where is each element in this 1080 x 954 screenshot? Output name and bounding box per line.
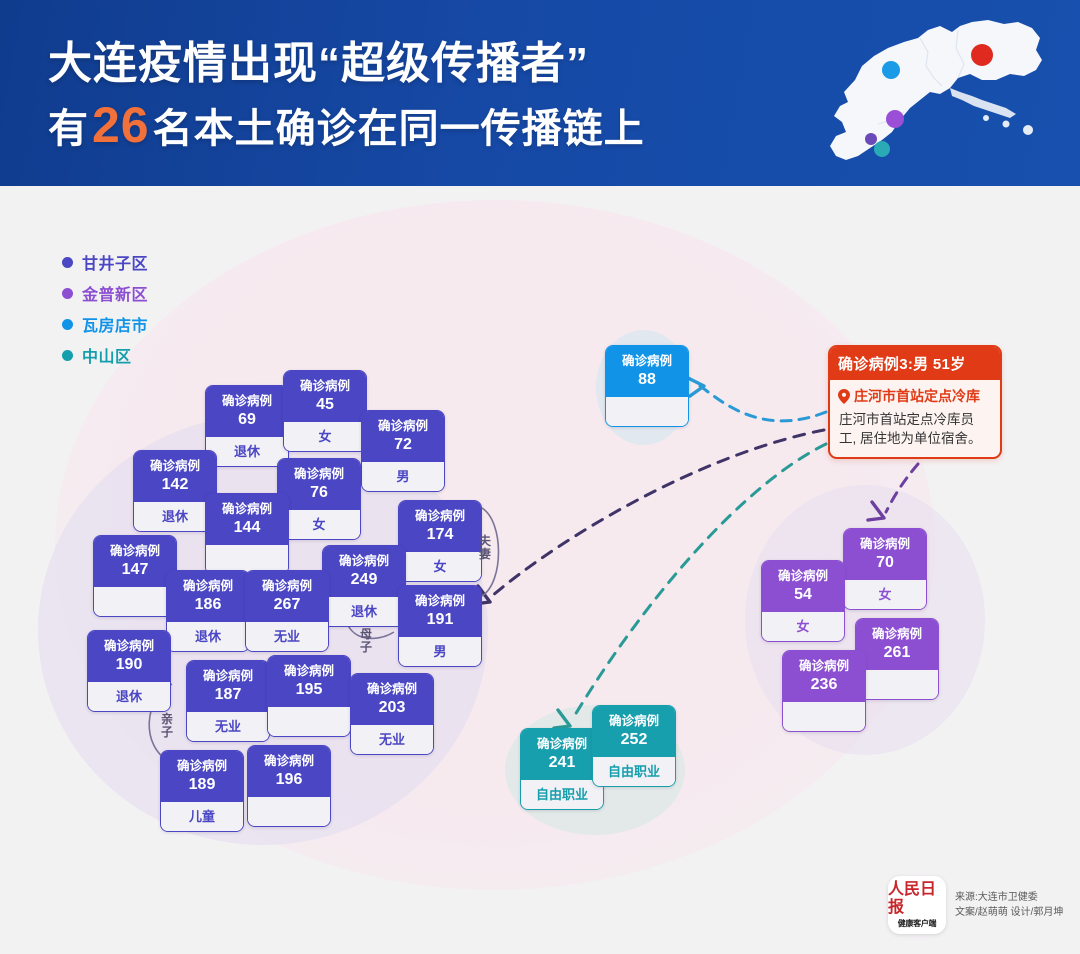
relation-label-249-191: 母子 bbox=[359, 628, 373, 654]
case-card-195[interactable]: 确诊病例195 bbox=[267, 655, 351, 737]
case-card-267[interactable]: 确诊病例267无业 bbox=[245, 570, 329, 652]
case-card-190[interactable]: 确诊病例190退休 bbox=[87, 630, 171, 712]
case-card-189[interactable]: 确诊病例189儿童 bbox=[160, 750, 244, 832]
source-case-location-row: 庄河市首站定点冷库 bbox=[830, 380, 1000, 408]
case-number: 203 bbox=[353, 698, 431, 718]
case-card-head: 确诊病例261 bbox=[856, 619, 938, 670]
case-number: 70 bbox=[846, 553, 924, 573]
case-prefix: 确诊病例 bbox=[622, 354, 672, 368]
case-number: 54 bbox=[764, 585, 842, 605]
case-prefix: 确诊病例 bbox=[799, 659, 849, 673]
case-card-196[interactable]: 确诊病例196 bbox=[247, 745, 331, 827]
title-block: 大连疫情出现“超级传播者” 有26名本土确诊在同一传播链上 bbox=[48, 36, 688, 156]
case-card-88[interactable]: 确诊病例88 bbox=[605, 345, 689, 427]
source-case-location: 庄河市首站定点冷库 bbox=[854, 386, 980, 406]
case-card-head: 确诊病例186 bbox=[167, 571, 249, 622]
headline-primary: 大连疫情出现“超级传播者” bbox=[48, 36, 688, 92]
case-card-261[interactable]: 确诊病例261 bbox=[855, 618, 939, 700]
case-card-attribute: 无业 bbox=[351, 725, 433, 754]
case-card-head: 确诊病例241 bbox=[521, 729, 603, 780]
legend: 甘井子区 金普新区 瓦房店市 中山区 bbox=[62, 248, 148, 372]
case-card-attribute: 女 bbox=[278, 510, 360, 539]
legend-label: 瓦房店市 bbox=[82, 312, 148, 336]
case-card-head: 确诊病例69 bbox=[206, 386, 288, 437]
location-pin-icon bbox=[838, 389, 850, 404]
case-prefix: 确诊病例 bbox=[284, 664, 334, 678]
case-card-attribute: 退休 bbox=[167, 622, 249, 651]
case-number: 45 bbox=[286, 395, 364, 415]
case-card-attribute: 女 bbox=[399, 552, 481, 581]
dalian-map bbox=[800, 8, 1070, 178]
case-card-186[interactable]: 确诊病例186退休 bbox=[166, 570, 250, 652]
case-card-attribute bbox=[856, 670, 938, 699]
legend-dot-icon bbox=[62, 319, 73, 330]
case-card-head: 确诊病例76 bbox=[278, 459, 360, 510]
case-card-174[interactable]: 确诊病例174女 bbox=[398, 500, 482, 582]
marker-red bbox=[971, 44, 993, 66]
case-card-attribute: 女 bbox=[844, 580, 926, 609]
case-prefix: 确诊病例 bbox=[872, 627, 922, 641]
marker-purple bbox=[886, 110, 904, 128]
case-prefix: 确诊病例 bbox=[222, 502, 272, 516]
case-number: 241 bbox=[523, 753, 601, 773]
case-card-head: 确诊病例267 bbox=[246, 571, 328, 622]
case-card-head: 确诊病例144 bbox=[206, 494, 288, 545]
case-prefix: 确诊病例 bbox=[177, 759, 227, 773]
case-card-attribute: 女 bbox=[284, 422, 366, 451]
case-card-head: 确诊病例147 bbox=[94, 536, 176, 587]
case-card-head: 确诊病例203 bbox=[351, 674, 433, 725]
case-card-head: 确诊病例191 bbox=[399, 586, 481, 637]
case-card-45[interactable]: 确诊病例45女 bbox=[283, 370, 367, 452]
credits-text: 来源:大连市卫健委 文案/赵萌萌 设计/郭月坤 bbox=[955, 890, 1063, 920]
case-prefix: 确诊病例 bbox=[415, 594, 465, 608]
case-card-252[interactable]: 确诊病例252自由职业 bbox=[592, 705, 676, 787]
legend-item-jinpu[interactable]: 金普新区 bbox=[62, 279, 148, 307]
case-card-head: 确诊病例236 bbox=[783, 651, 865, 702]
case-card-147[interactable]: 确诊病例147 bbox=[93, 535, 177, 617]
footer-credits: 人民日报 健康客户端 来源:大连市卫健委 文案/赵萌萌 设计/郭月坤 bbox=[888, 876, 1063, 934]
marker-blue bbox=[882, 61, 900, 79]
case-card-203[interactable]: 确诊病例203无业 bbox=[350, 673, 434, 755]
case-card-head: 确诊病例70 bbox=[844, 529, 926, 580]
headline-count: 26 bbox=[89, 97, 153, 153]
case-card-attribute: 退休 bbox=[323, 597, 405, 626]
case-card-attribute bbox=[94, 587, 176, 616]
case-number: 88 bbox=[608, 370, 686, 390]
case-number: 144 bbox=[208, 518, 286, 538]
relation-label-174-191: 夫妻 bbox=[478, 535, 492, 561]
case-card-attribute: 无业 bbox=[187, 712, 269, 741]
case-card-54[interactable]: 确诊病例54女 bbox=[761, 560, 845, 642]
case-card-head: 确诊病例249 bbox=[323, 546, 405, 597]
case-number: 186 bbox=[169, 595, 247, 615]
case-card-head: 确诊病例190 bbox=[88, 631, 170, 682]
source-case-title: 确诊病例3:男 51岁 bbox=[830, 347, 1000, 380]
source-case-card[interactable]: 确诊病例3:男 51岁 庄河市首站定点冷库 庄河市首站定点冷库员工, 居住地为单… bbox=[828, 345, 1002, 459]
case-card-236[interactable]: 确诊病例236 bbox=[782, 650, 866, 732]
case-prefix: 确诊病例 bbox=[203, 669, 253, 683]
case-prefix: 确诊病例 bbox=[104, 639, 154, 653]
source-case-description: 庄河市首站定点冷库员工, 居住地为单位宿舍。 bbox=[830, 408, 1000, 457]
legend-label: 中山区 bbox=[82, 343, 132, 367]
case-card-69[interactable]: 确诊病例69退休 bbox=[205, 385, 289, 467]
legend-dot-icon bbox=[62, 350, 73, 361]
marker-teal bbox=[874, 141, 890, 157]
case-prefix: 确诊病例 bbox=[415, 509, 465, 523]
case-number: 196 bbox=[250, 770, 328, 790]
case-card-attribute bbox=[783, 702, 865, 731]
case-prefix: 确诊病例 bbox=[264, 754, 314, 768]
case-card-187[interactable]: 确诊病例187无业 bbox=[186, 660, 270, 742]
case-card-head: 确诊病例54 bbox=[762, 561, 844, 612]
case-card-attribute: 无业 bbox=[246, 622, 328, 651]
case-card-attribute: 男 bbox=[399, 637, 481, 666]
logo-subtitle: 健康客户端 bbox=[898, 919, 937, 929]
case-card-attribute: 退休 bbox=[206, 437, 288, 466]
case-number: 261 bbox=[858, 643, 936, 663]
case-prefix: 确诊病例 bbox=[367, 682, 417, 696]
legend-label: 金普新区 bbox=[82, 281, 148, 305]
relation-label-190-189: 亲子 bbox=[160, 713, 174, 739]
case-prefix: 确诊病例 bbox=[609, 714, 659, 728]
case-prefix: 确诊病例 bbox=[150, 459, 200, 473]
logo-title: 人民日报 bbox=[888, 881, 946, 917]
case-card-head: 确诊病例72 bbox=[362, 411, 444, 462]
case-card-attribute: 退休 bbox=[134, 502, 216, 531]
case-number: 191 bbox=[401, 610, 479, 630]
legend-label: 甘井子区 bbox=[82, 250, 148, 274]
case-card-head: 确诊病例195 bbox=[268, 656, 350, 707]
case-card-head: 确诊病例142 bbox=[134, 451, 216, 502]
case-prefix: 确诊病例 bbox=[378, 419, 428, 433]
case-number: 189 bbox=[163, 775, 241, 795]
legend-item-zhongshan[interactable]: 中山区 bbox=[62, 341, 148, 369]
credit-source: 来源:大连市卫健委 bbox=[955, 890, 1063, 905]
legend-dot-icon bbox=[62, 288, 73, 299]
case-number: 252 bbox=[595, 730, 673, 750]
case-prefix: 确诊病例 bbox=[110, 544, 160, 558]
case-card-attribute bbox=[248, 797, 330, 826]
case-card-attribute: 退休 bbox=[88, 682, 170, 711]
case-prefix: 确诊病例 bbox=[183, 579, 233, 593]
case-card-attribute: 男 bbox=[362, 462, 444, 491]
case-number: 249 bbox=[325, 570, 403, 590]
case-card-attribute: 自由职业 bbox=[593, 757, 675, 786]
case-card-head: 确诊病例45 bbox=[284, 371, 366, 422]
case-card-191[interactable]: 确诊病例191男 bbox=[398, 585, 482, 667]
case-card-head: 确诊病例174 bbox=[399, 501, 481, 552]
headline-secondary: 有26名本土确诊在同一传播链上 bbox=[48, 98, 688, 156]
case-card-attribute: 女 bbox=[762, 612, 844, 641]
case-card-attribute: 自由职业 bbox=[521, 780, 603, 809]
case-number: 195 bbox=[270, 680, 348, 700]
legend-dot-icon bbox=[62, 257, 73, 268]
case-prefix: 确诊病例 bbox=[339, 554, 389, 568]
case-card-head: 确诊病例189 bbox=[161, 751, 243, 802]
case-number: 236 bbox=[785, 675, 863, 695]
rmrb-logo: 人民日报 健康客户端 bbox=[888, 876, 946, 934]
credit-authors: 文案/赵萌萌 设计/郭月坤 bbox=[955, 905, 1063, 920]
case-prefix: 确诊病例 bbox=[262, 579, 312, 593]
case-number: 72 bbox=[364, 435, 442, 455]
legend-item-ganjingzi[interactable]: 甘井子区 bbox=[62, 248, 148, 276]
case-number: 190 bbox=[90, 655, 168, 675]
case-card-72[interactable]: 确诊病例72男 bbox=[361, 410, 445, 492]
case-card-head: 确诊病例187 bbox=[187, 661, 269, 712]
case-prefix: 确诊病例 bbox=[778, 569, 828, 583]
headline-secondary-post: 名本土确诊在同一传播链上 bbox=[153, 107, 645, 151]
map-shape-svg bbox=[800, 8, 1070, 178]
case-card-head: 确诊病例196 bbox=[248, 746, 330, 797]
legend-item-wafangdian[interactable]: 瓦房店市 bbox=[62, 310, 148, 338]
case-card-70[interactable]: 确诊病例70女 bbox=[843, 528, 927, 610]
case-card-attribute: 儿童 bbox=[161, 802, 243, 831]
case-prefix: 确诊病例 bbox=[294, 467, 344, 481]
case-prefix: 确诊病例 bbox=[300, 379, 350, 393]
case-number: 174 bbox=[401, 525, 479, 545]
case-card-head: 确诊病例88 bbox=[606, 346, 688, 397]
case-number: 187 bbox=[189, 685, 267, 705]
case-card-249[interactable]: 确诊病例249退休 bbox=[322, 545, 406, 627]
case-number: 147 bbox=[96, 560, 174, 580]
case-prefix: 确诊病例 bbox=[222, 394, 272, 408]
case-number: 69 bbox=[208, 410, 286, 430]
case-prefix: 确诊病例 bbox=[537, 737, 587, 751]
case-card-attribute bbox=[606, 397, 688, 426]
infographic-canvas: 大连疫情出现“超级传播者” 有26名本土确诊在同一传播链上 bbox=[0, 0, 1080, 954]
case-card-attribute bbox=[268, 707, 350, 736]
case-number: 76 bbox=[280, 483, 358, 503]
case-card-76[interactable]: 确诊病例76女 bbox=[277, 458, 361, 540]
case-number: 142 bbox=[136, 475, 214, 495]
case-card-144[interactable]: 确诊病例144 bbox=[205, 493, 289, 575]
headline-secondary-pre: 有 bbox=[48, 107, 89, 151]
case-prefix: 确诊病例 bbox=[860, 537, 910, 551]
case-card-head: 确诊病例252 bbox=[593, 706, 675, 757]
case-number: 267 bbox=[248, 595, 326, 615]
header-banner: 大连疫情出现“超级传播者” 有26名本土确诊在同一传播链上 bbox=[0, 0, 1080, 186]
